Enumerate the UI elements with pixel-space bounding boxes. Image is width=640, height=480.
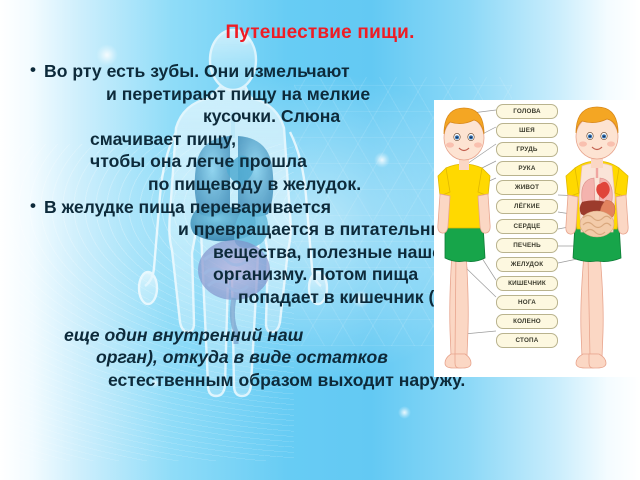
body-part-label-list: ГОЛОВА ШЕЯ ГРУДЬ РУКА ЖИВОТ ЛЁГКИЕ СЕРДЦ… — [496, 104, 558, 352]
label-noga[interactable]: НОГА — [496, 295, 558, 310]
label-pechen[interactable]: ПЕЧЕНЬ — [496, 238, 558, 253]
text-line: Во рту есть зубы. Они измельчают — [28, 60, 588, 83]
bokeh-dot — [398, 406, 411, 419]
boy-internal-organs-figure — [558, 102, 636, 374]
label-zheludok[interactable]: ЖЕЛУДОК — [496, 257, 558, 272]
label-koleno[interactable]: КОЛЕНО — [496, 314, 558, 329]
label-golova[interactable]: ГОЛОВА — [496, 104, 558, 119]
label-kishechnik[interactable]: КИШЕЧНИК — [496, 276, 558, 291]
text-emphasis: орган), откуда в виде остатков — [96, 347, 388, 367]
label-grud[interactable]: ГРУДЬ — [496, 142, 558, 157]
label-zhivot[interactable]: ЖИВОТ — [496, 180, 558, 195]
label-legkie[interactable]: ЛЁГКИЕ — [496, 199, 558, 214]
slide-title: Путешествие пищи. — [0, 22, 640, 44]
label-stopa[interactable]: СТОПА — [496, 333, 558, 348]
body-parts-illustration-panel: ГОЛОВА ШЕЯ ГРУДЬ РУКА ЖИВОТ ЛЁГКИЕ СЕРДЦ… — [434, 100, 640, 377]
label-sheya[interactable]: ШЕЯ — [496, 123, 558, 138]
label-ruka[interactable]: РУКА — [496, 161, 558, 176]
boy-outside-figure — [434, 102, 496, 374]
label-serdce[interactable]: СЕРДЦЕ — [496, 219, 558, 234]
slide-canvas: Путешествие пищи. Во рту есть зубы. Они … — [0, 0, 640, 480]
